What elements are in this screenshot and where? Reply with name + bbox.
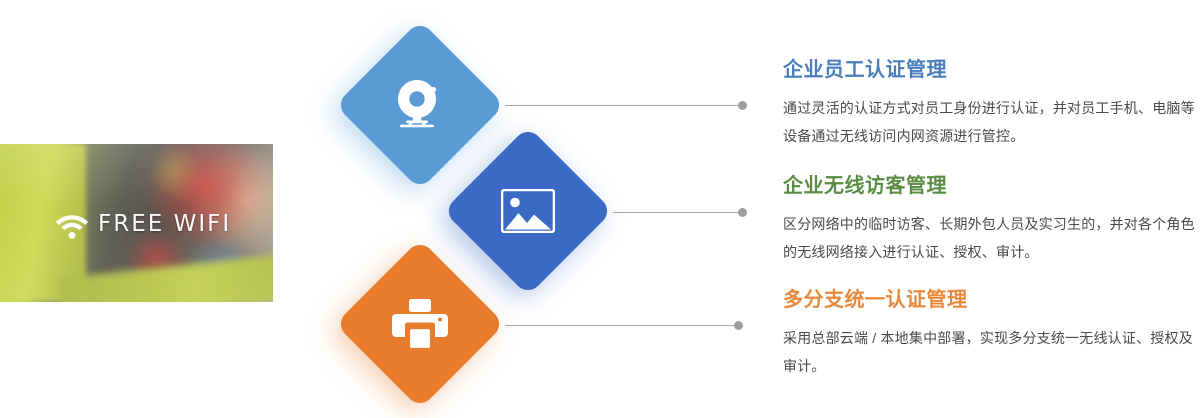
connector-line-stroke [505, 325, 735, 326]
wifi-icon [54, 210, 90, 240]
node-guest-management[interactable] [443, 126, 613, 296]
feature-block-guest-management: 企业无线访客管理 区分网络中的临时访客、长期外包人员及实习生的，并对各个角色的无… [783, 174, 1195, 266]
feature-body: 采用总部云端 / 本地集中部署，实现多分支统一无线认证、授权及审计。 [783, 324, 1195, 380]
connector-endpoint-dot [734, 321, 743, 330]
node-multi-branch-auth[interactable] [335, 239, 505, 409]
free-wifi-photo: FREE WIFI [0, 144, 273, 302]
photo-caption: FREE WIFI [98, 211, 231, 237]
feature-block-multi-branch-auth: 多分支统一认证管理 采用总部云端 / 本地集中部署，实现多分支统一无线认证、授权… [783, 288, 1195, 380]
connector-endpoint-dot [738, 101, 747, 110]
feature-heading: 多分支统一认证管理 [783, 288, 1195, 312]
feature-heading: 企业无线访客管理 [783, 174, 1195, 198]
image-icon [501, 189, 555, 233]
connector-line-stroke [505, 105, 739, 106]
connector-endpoint-dot [738, 208, 747, 217]
connector-line-stroke [613, 212, 739, 213]
connector-line-1 [505, 98, 747, 112]
infographic-stage: FREE WIFI [0, 0, 1200, 418]
printer-icon [392, 298, 448, 350]
feature-heading: 企业员工认证管理 [783, 58, 1195, 82]
webcam-icon [391, 76, 449, 134]
connector-line-3 [505, 318, 743, 332]
feature-block-employee-auth: 企业员工认证管理 通过灵活的认证方式对员工身份进行认证，并对员工手机、电脑等设备… [783, 58, 1195, 150]
node-employee-auth[interactable] [335, 20, 505, 190]
connector-line-2 [613, 205, 747, 219]
feature-body: 区分网络中的临时访客、长期外包人员及实习生的，并对各个角色的无线网络接入进行认证… [783, 210, 1195, 266]
feature-body: 通过灵活的认证方式对员工身份进行认证，并对员工手机、电脑等设备通过无线访问内网资… [783, 94, 1195, 150]
